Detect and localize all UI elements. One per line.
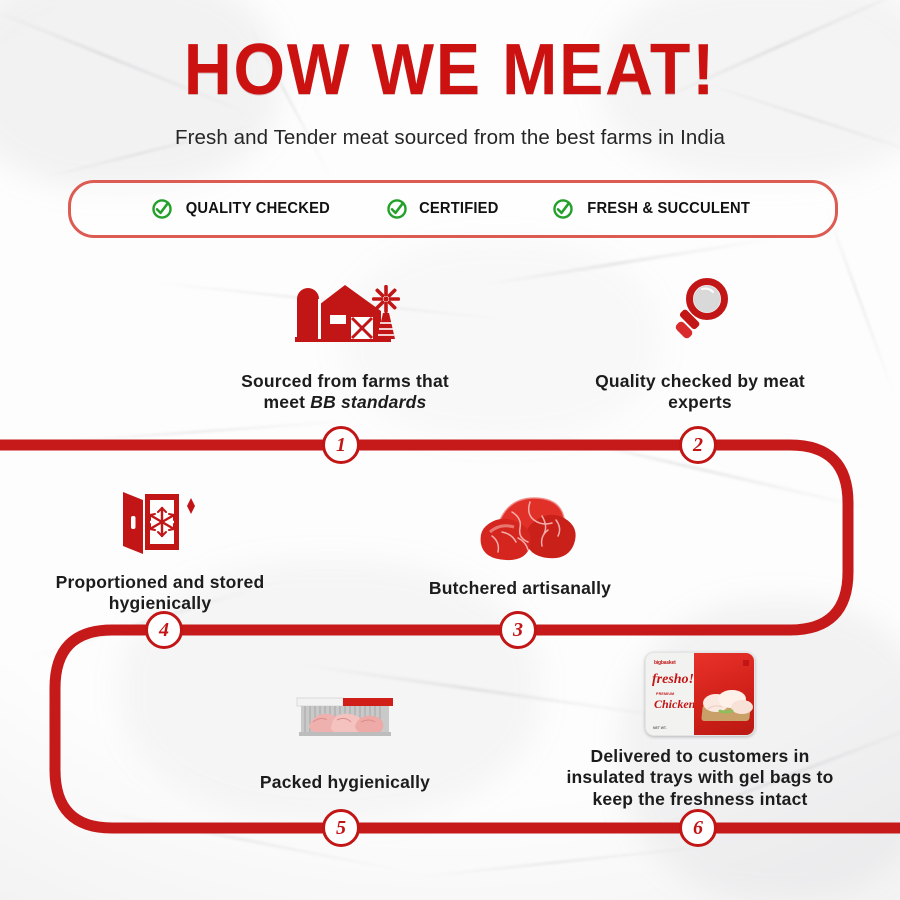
check-circle-icon	[552, 198, 574, 220]
step-4: Proportioned and stored hygienically	[35, 486, 285, 615]
step-1-caption-line2-italic: BB standards	[310, 392, 426, 412]
veg-nonveg-mark-icon	[743, 660, 749, 666]
step-4-caption-line2: hygienically	[109, 593, 212, 613]
badge-fresh-succulent: FRESH & SUCCULENT	[526, 198, 780, 220]
pack-descriptor: PREMIUM	[656, 692, 674, 696]
step-1: Sourced from farms that meet BB standard…	[200, 275, 490, 414]
step-6-caption-line1: Delivered to customers in	[591, 746, 810, 766]
step-3: Butchered artisanally	[395, 492, 645, 599]
step-5: Packed hygienically	[220, 688, 470, 793]
chicken-pieces-icon	[696, 683, 755, 719]
step-marker-6: 6	[679, 809, 717, 847]
page-subtitle: Fresh and Tender meat sourced from the b…	[0, 126, 900, 150]
step-3-caption-line1: Butchered artisanally	[429, 578, 611, 598]
meat-cuts-icon	[456, 492, 584, 562]
step-3-caption: Butchered artisanally	[395, 578, 645, 599]
step-2: Quality checked by meat experts	[555, 275, 845, 414]
pack-front-panel: bigbasket fresho! PREMIUM Chicken NET WT…	[646, 653, 694, 735]
step-6-caption-line3: keep the freshness intact	[592, 789, 807, 809]
check-circle-icon	[151, 198, 173, 220]
step-1-caption: Sourced from farms that meet BB standard…	[200, 371, 490, 414]
packed-meat-tray-icon	[293, 692, 397, 750]
step-6-caption: Delivered to customers in insulated tray…	[545, 746, 855, 810]
step-1-caption-line2-plain: meet	[264, 392, 311, 412]
step-2-caption-line2: experts	[668, 392, 732, 412]
pack-product-name: Chicken	[654, 697, 695, 712]
bigbasket-logo: bigbasket	[654, 660, 676, 666]
step-6: bigbasket fresho! PREMIUM Chicken NET WT…	[545, 648, 855, 810]
step-4-caption-line1: Proportioned and stored	[56, 572, 265, 592]
step-5-caption-line1: Packed hygienically	[260, 772, 430, 792]
infographic-poster: HOW WE MEAT! Fresh and Tender meat sourc…	[0, 0, 900, 900]
badge-label: FRESH & SUCCULENT	[588, 200, 751, 218]
badge-label: QUALITY CHECKED	[186, 200, 330, 218]
badge-quality-checked: QUALITY CHECKED	[125, 198, 360, 220]
fresho-chicken-pack-icon: bigbasket fresho! PREMIUM Chicken NET WT…	[645, 652, 755, 736]
barn-windmill-icon	[289, 277, 401, 351]
badge-label: CERTIFIED	[419, 200, 498, 218]
pack-net-weight: NET WT.	[653, 726, 667, 730]
badge-bar: QUALITY CHECKED CERTIFIED FRESH & SUCCUL…	[68, 180, 838, 238]
magnifying-glass-icon	[665, 277, 735, 351]
step-4-caption: Proportioned and stored hygienically	[35, 572, 285, 615]
step-1-caption-line1: Sourced from farms that	[241, 371, 449, 391]
step-marker-5: 5	[322, 809, 360, 847]
pack-product-photo	[694, 653, 754, 735]
step-2-caption: Quality checked by meat experts	[555, 371, 845, 414]
step-marker-4: 4	[145, 611, 183, 649]
fresho-brand-name: fresho!	[652, 672, 694, 688]
page-title: HOW WE MEAT!	[36, 34, 864, 106]
step-2-caption-line1: Quality checked by meat	[595, 371, 805, 391]
badge-certified: CERTIFIED	[360, 198, 527, 220]
step-5-caption: Packed hygienically	[220, 772, 470, 793]
step-marker-2: 2	[679, 426, 717, 464]
step-6-caption-line2: insulated trays with gel bags to	[566, 767, 833, 787]
freezer-snowflake-icon	[117, 486, 203, 558]
check-circle-icon	[386, 198, 408, 220]
step-marker-3: 3	[499, 611, 537, 649]
step-marker-1: 1	[322, 426, 360, 464]
